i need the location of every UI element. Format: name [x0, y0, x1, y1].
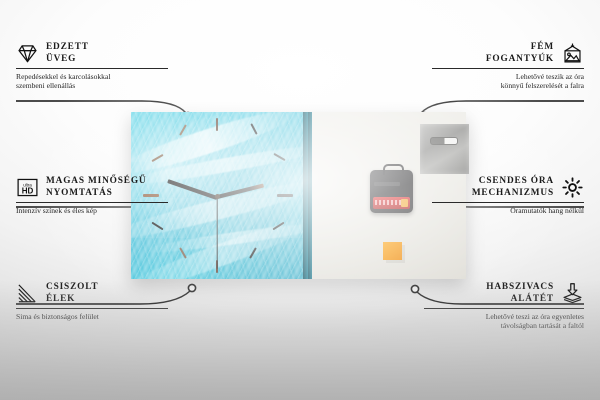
callout-rule	[16, 202, 168, 203]
clock-hands-hub	[215, 194, 220, 199]
clock-tick-3	[277, 194, 293, 197]
callout-rule	[432, 202, 584, 203]
gear-icon	[561, 176, 584, 199]
callout-title-line1: FÉM	[531, 42, 554, 52]
callout-desc-line1: Intenzív színek és éles kép	[16, 206, 97, 215]
callout-desc-line1: Lehetővé teszik az óra	[516, 72, 584, 81]
callout-desc-line2: könnyű felszerelését a falra	[501, 81, 584, 90]
hanging-frame-icon	[561, 42, 584, 65]
callout-title-line2: ÉLEK	[46, 294, 75, 304]
callout-title-line2: ALÁTÉT	[511, 294, 554, 304]
diamond-icon	[16, 42, 39, 65]
metal-hanger-plate	[420, 124, 469, 174]
endpoint-polished-edges	[188, 284, 195, 291]
callout-tempered-glass[interactable]: EDZETT ÜVEG Repedésekkel és karcolásokka…	[16, 42, 168, 91]
callout-desc-line1: Sima és biztonságos felület	[16, 312, 99, 321]
callout-rule	[432, 68, 584, 69]
callout-title-line2: ÜVEG	[46, 54, 76, 64]
callout-title-line2: NYOMTATÁS	[46, 188, 113, 198]
callout-desc-line1: Óramutatók hang nélkül	[510, 206, 584, 215]
callout-foam-pad[interactable]: HABSZIVACS ALÁTÉT Lehetővé teszi az óra …	[424, 282, 584, 331]
callout-desc-line1: Lehetővé teszi az óra egyenletes	[486, 312, 584, 321]
product-group	[131, 112, 466, 279]
endpoint-foam-pad	[411, 285, 418, 292]
infographic-canvas: EDZETT ÜVEG Repedésekkel és karcolásokka…	[0, 0, 600, 400]
clock-mechanism	[370, 170, 413, 213]
mechanism-hook	[383, 164, 404, 175]
callout-rule	[424, 308, 584, 309]
mechanism-bar	[374, 182, 400, 186]
callout-title-line1: HABSZIVACS	[486, 282, 554, 292]
callout-title-line1: CSISZOLT	[46, 282, 98, 292]
callout-title-line1: EDZETT	[46, 42, 89, 52]
callout-title-line2: MECHANIZMUS	[472, 188, 554, 198]
polished-edge-icon	[16, 282, 39, 305]
callout-title-line1: CSENDES ÓRA	[479, 176, 554, 186]
foam-spacer-pad	[383, 242, 402, 260]
callout-rule	[16, 308, 168, 309]
callout-polished-edges[interactable]: CSISZOLT ÉLEK Sima és biztonságos felüle…	[16, 282, 168, 321]
second-hand	[216, 197, 217, 269]
battery-label	[375, 200, 401, 205]
foam-pad-arrow-icon	[561, 282, 584, 305]
callout-high-quality-print[interactable]: ultra HD MAGAS MINŐSÉGŰ NYOMTATÁS Intenz…	[16, 176, 168, 215]
callout-title-line1: MAGAS MINŐSÉGŰ	[46, 176, 146, 186]
callout-desc-line2: távolságban tartását a faltól	[501, 321, 584, 330]
ultra-hd-icon: ultra HD	[16, 176, 39, 199]
battery	[373, 197, 410, 209]
callout-desc-line2: szembeni ellenállás	[16, 81, 75, 90]
callout-title-line2: FOGANTYÚK	[486, 54, 554, 64]
callout-silent-mechanism[interactable]: CSENDES ÓRA MECHANIZMUS Óramutatók hang …	[432, 176, 584, 215]
svg-text:HD: HD	[22, 186, 34, 195]
battery-plus-terminal	[401, 199, 408, 207]
hanger-slot	[430, 137, 458, 145]
callout-rule	[16, 68, 168, 69]
callout-desc-line1: Repedésekkel és karcolásokkal	[16, 72, 110, 81]
clock-tick-12	[216, 118, 218, 131]
callout-metal-handles[interactable]: FÉM FOGANTYÚK Lehetővé teszik az óra kön…	[432, 42, 584, 91]
